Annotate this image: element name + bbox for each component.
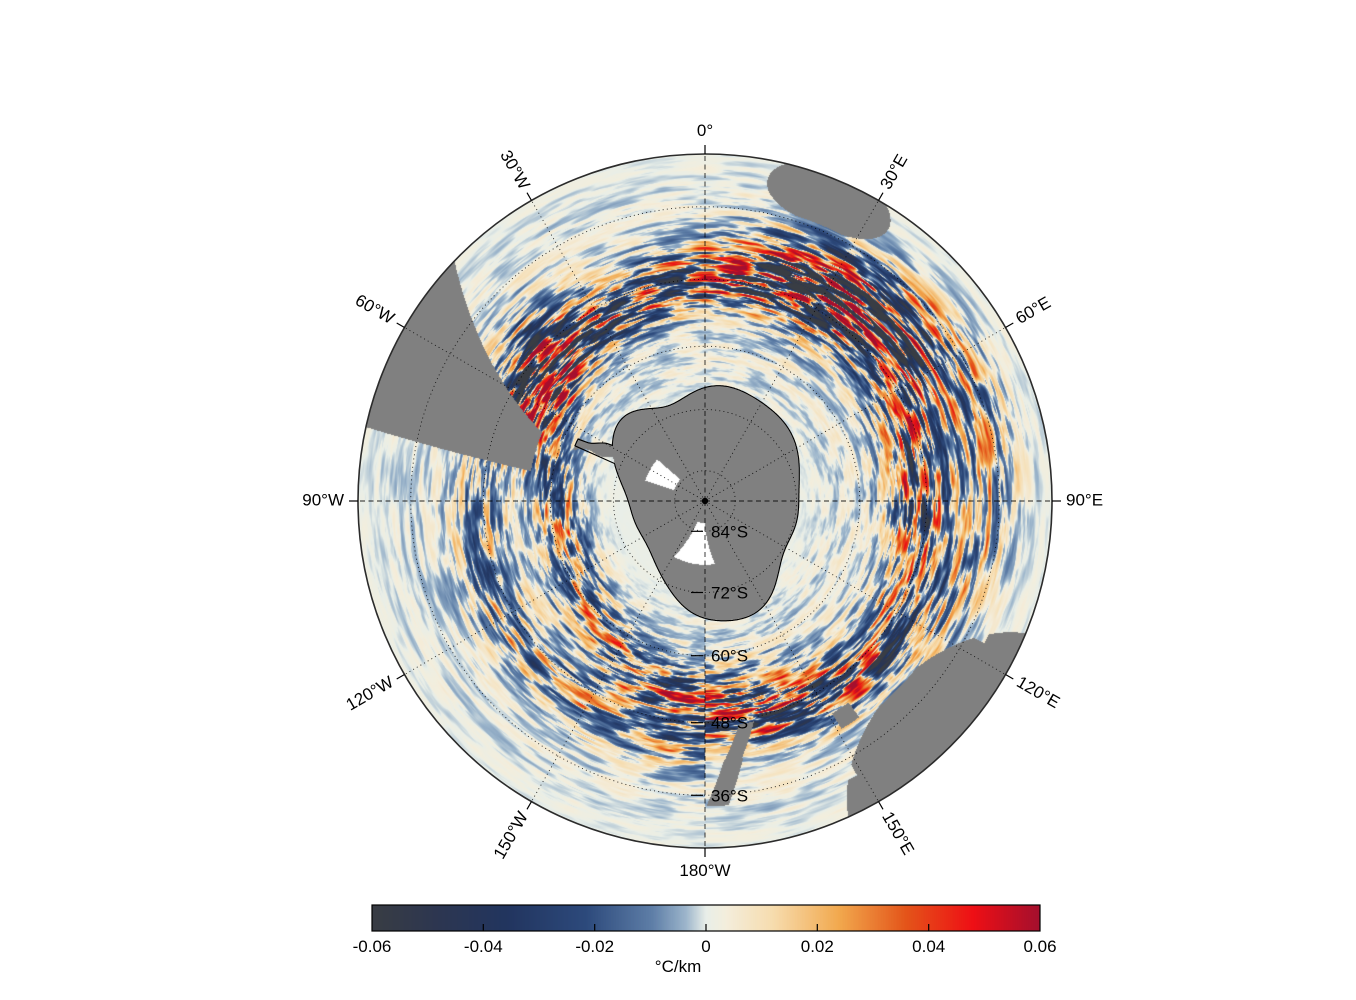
- longitude-label: 90°W: [302, 490, 344, 509]
- colorbar-tick-label: 0.02: [801, 937, 834, 956]
- sst-gradient-raster: [0, 0, 1356, 1000]
- latitude-label: 60°S: [711, 647, 748, 666]
- latitude-label: 48°S: [711, 714, 748, 733]
- map-svg: 0°30°E60°E90°E120°E150°E180°W150°W120°W9…: [0, 0, 1356, 1000]
- latitude-label: 36°S: [711, 786, 748, 805]
- colorbar-unit-label: °C/km: [0, 957, 1356, 977]
- colorbar-tick-label: -0.04: [464, 937, 503, 956]
- colorbar-tick-label: 0.06: [1023, 937, 1056, 956]
- latitude-label: 72°S: [711, 584, 748, 603]
- colorbar-tick-label: 0.04: [912, 937, 945, 956]
- colorbar-tick-label: -0.02: [575, 937, 614, 956]
- longitude-label: 90°E: [1066, 490, 1103, 509]
- figure-root: AVHRR Zonal Sea Surface Temperature Grad…: [0, 0, 1356, 1000]
- colorbar-tick-label: 0: [701, 937, 710, 956]
- colorbar-tick-label: -0.06: [353, 937, 392, 956]
- longitude-label: 180°W: [679, 861, 730, 880]
- pole-marker: [702, 498, 708, 504]
- latitude-label: 84°S: [711, 522, 748, 541]
- polar-map: 0°30°E60°E90°E120°E150°E180°W150°W120°W9…: [0, 0, 1356, 1000]
- longitude-label: 0°: [697, 121, 713, 140]
